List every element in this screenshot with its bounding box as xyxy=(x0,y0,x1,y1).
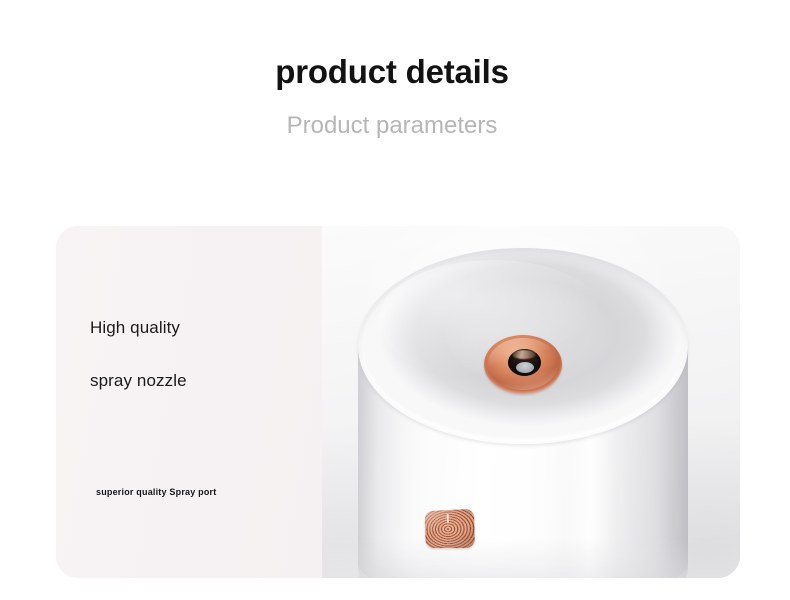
power-button xyxy=(425,509,475,548)
power-button-gloss xyxy=(425,509,475,548)
page-title: product details xyxy=(0,0,787,92)
power-button-notch xyxy=(447,514,449,523)
product-showcase-card: High quality spray nozzle superior quali… xyxy=(56,226,740,578)
caption-line-spray-nozzle: spray nozzle xyxy=(90,371,187,391)
caption-subnote: superior quality Spray port xyxy=(96,487,216,497)
spray-nozzle-cavity-gloss xyxy=(512,350,536,359)
spray-nozzle-core xyxy=(516,362,534,373)
page-subtitle: Product parameters xyxy=(0,92,787,141)
product-photo-pane xyxy=(322,226,740,578)
caption-pane: High quality spray nozzle superior quali… xyxy=(56,226,322,578)
caption-line-high-quality: High quality xyxy=(90,318,180,338)
page-header: product details Product parameters xyxy=(0,0,790,140)
